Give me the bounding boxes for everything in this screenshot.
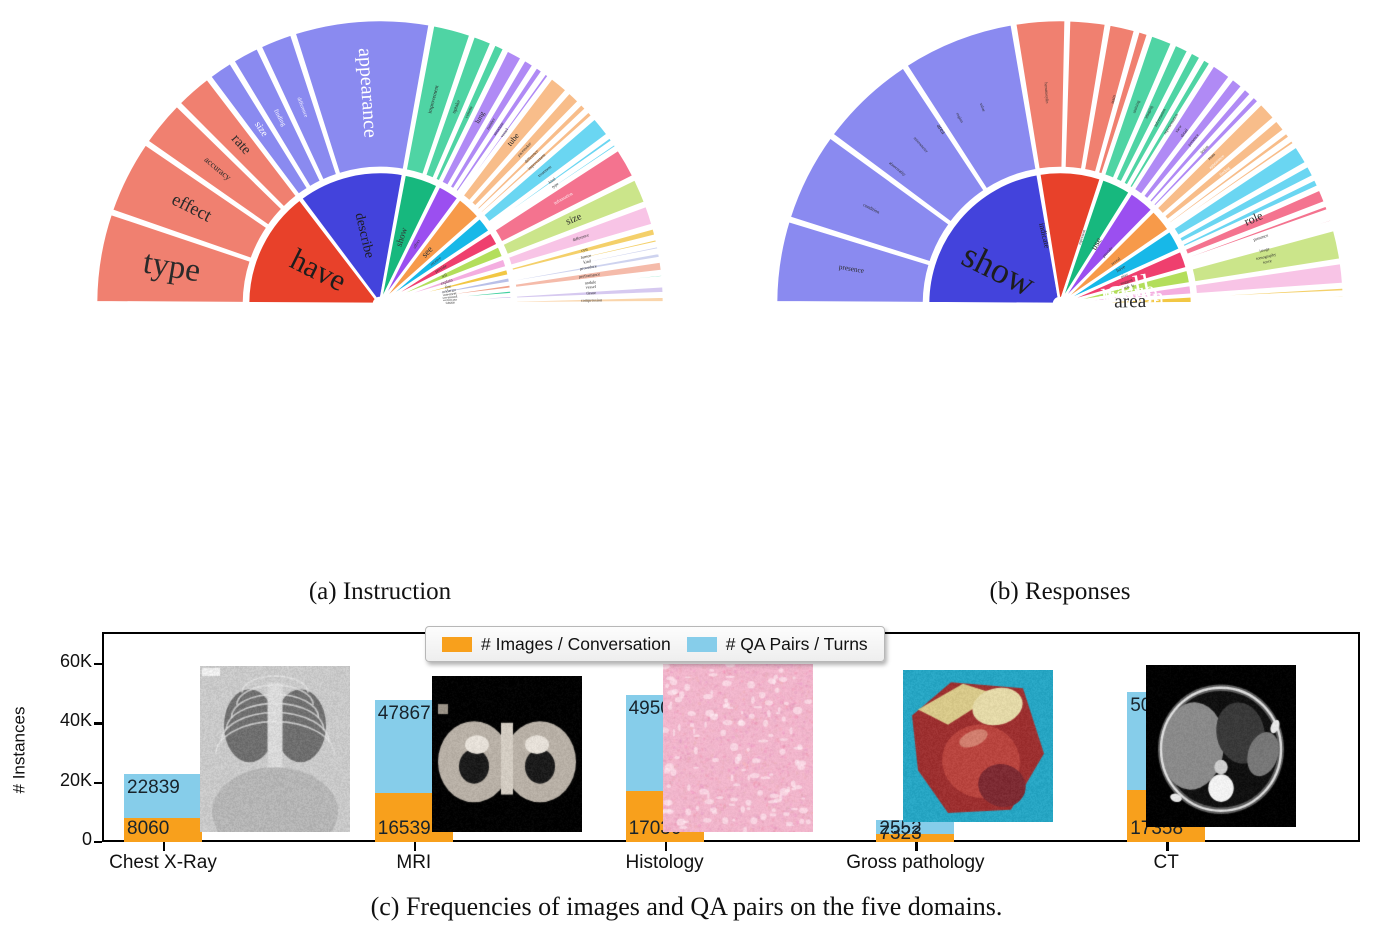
sunburst-slice-label: tissue [586, 290, 596, 295]
x-axis-tick-label: Histology [555, 852, 775, 874]
xray-thumbnail [200, 666, 350, 832]
legend-label: # QA Pairs / Turns [726, 634, 868, 655]
x-axis-tick-mark [163, 842, 165, 851]
chart-legend: # Images / Conversation# QA Pairs / Turn… [425, 626, 885, 662]
sunburst-slice [1196, 301, 1344, 303]
x-axis-tick-label: Chest X-Ray [53, 852, 273, 874]
bar-value-label-qa-pairs: 22839 [127, 777, 180, 799]
x-axis-tick-mark [414, 842, 416, 851]
sunburst-responses: showindicaterepresentuseproviderevealhav… [760, 4, 1360, 564]
y-axis-tick-mark [94, 663, 102, 665]
bar-value-label-qa-pairs: 47867 [378, 703, 431, 725]
x-axis-tick-mark [665, 842, 667, 851]
legend-item: # Images / Conversation [442, 634, 671, 655]
x-axis-tick-mark [1166, 842, 1168, 851]
legend-swatch [442, 637, 472, 652]
caption-panel-c: (c) Frequencies of images and QA pairs o… [0, 892, 1373, 922]
caption-panel-a: (a) Instruction [200, 578, 560, 606]
y-axis-tick-label: 0 [36, 829, 92, 850]
x-axis-tick-label: CT [1056, 852, 1276, 874]
x-axis-tick-label: MRI [304, 852, 524, 874]
y-axis-title: # Instances [6, 660, 32, 840]
y-axis-tick-label: 40K [36, 710, 92, 731]
x-axis-tick-label: Gross pathology [805, 852, 1025, 874]
legend-label: # Images / Conversation [481, 634, 671, 655]
bar-value-label-images: 8060 [127, 818, 169, 840]
caption-panel-b: (b) Responses [880, 578, 1240, 606]
gross-pathology-thumbnail [903, 670, 1053, 822]
y-axis-title-text: # Instances [9, 707, 29, 794]
sunburst-slice-label: vessel [585, 284, 596, 290]
ct-thumbnail [1146, 665, 1296, 827]
bar-value-label-images: 16539 [378, 818, 431, 840]
y-axis-tick-label: 20K [36, 770, 92, 791]
y-axis-tick-label: 60K [36, 651, 92, 672]
sunburst-slice-label: cause [446, 300, 456, 305]
sunburst-instruction: havedescribeshowaffectseereceiveprovidet… [80, 4, 680, 564]
y-axis-tick-mark [94, 841, 102, 843]
sunburst-slice-label: area [1114, 291, 1147, 313]
legend-item: # QA Pairs / Turns [687, 634, 868, 655]
y-axis-tick-mark [94, 722, 102, 724]
mri-thumbnail [432, 676, 582, 832]
y-axis-tick-mark [94, 782, 102, 784]
legend-swatch [687, 637, 717, 652]
histology-thumbnail [663, 664, 813, 832]
sunburst-slice-label: compression [581, 297, 603, 302]
